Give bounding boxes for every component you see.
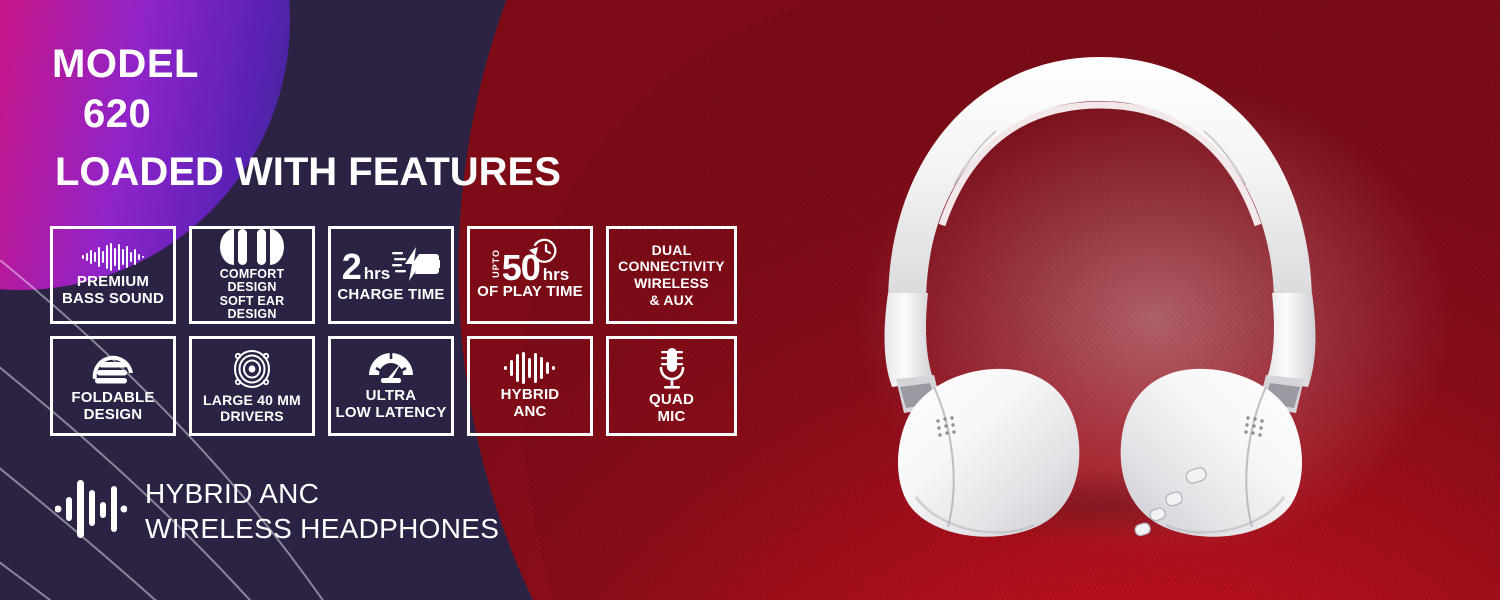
clock-arrow-icon: [526, 236, 560, 266]
feature-hybrid-anc[interactable]: HYBRID ANC: [467, 336, 593, 436]
play-time-unit: hrs: [543, 267, 569, 282]
feature-ultra-low-latency[interactable]: ULTRA LOW LATENCY: [328, 336, 454, 436]
charge-time-value: 2 hrs: [342, 251, 391, 283]
feature-dual-connectivity[interactable]: DUAL CONNECTIVITY WIRELESS & AUX: [606, 226, 737, 324]
feature-grid: PREMIUM BASS SOUND COMFORT DESIGN SOFT E…: [50, 226, 737, 436]
feature-charge-time[interactable]: 2 hrs: [328, 226, 454, 324]
anc-waveform-icon: [504, 352, 556, 384]
foldable-headphone-icon: [89, 349, 137, 387]
feature-large-drivers[interactable]: LARGE 40 MM DRIVERS: [189, 336, 315, 436]
feature-comfort-design[interactable]: COMFORT DESIGN SOFT EAR DESIGN: [189, 226, 315, 324]
feature-label: CHARGE TIME: [337, 287, 444, 303]
feature-premium-bass-sound[interactable]: PREMIUM BASS SOUND: [50, 226, 176, 324]
microphone-icon: [656, 347, 688, 389]
brand-text: HYBRID ANC WIRELESS HEADPHONES: [145, 477, 499, 545]
feature-play-time[interactable]: UPTO 50 hrs OF PLAY TIME: [467, 226, 593, 324]
feature-row-1: PREMIUM BASS SOUND COMFORT DESIGN SOFT E…: [50, 226, 737, 324]
play-time-prefix: UPTO: [491, 249, 501, 278]
model-label: MODEL: [52, 44, 199, 84]
feature-label: QUAD MIC: [649, 392, 694, 424]
product-image: [830, 35, 1370, 545]
charge-time-unit: hrs: [364, 266, 390, 281]
waveform-logo-icon: [55, 476, 127, 547]
model-number: 620: [83, 94, 151, 134]
feature-quad-mic[interactable]: QUAD MIC: [606, 336, 737, 436]
feature-label: COMFORT DESIGN SOFT EAR DESIGN: [195, 268, 309, 322]
speedometer-icon: [367, 351, 415, 385]
product-feature-banner: MODEL 620 LOADED WITH FEATURES: [0, 0, 1500, 600]
headphones-illustration: [830, 35, 1370, 545]
feature-label: LARGE 40 MM DRIVERS: [203, 393, 301, 423]
fast-charge-battery-icon: [392, 247, 440, 281]
feature-label: DUAL CONNECTIVITY WIRELESS & AUX: [618, 242, 725, 308]
feature-label: HYBRID ANC: [501, 387, 560, 419]
feature-label: FOLDABLE DESIGN: [71, 390, 154, 422]
feature-label: ULTRA LOW LATENCY: [335, 388, 446, 420]
brand-lockup: HYBRID ANC WIRELESS HEADPHONES: [55, 476, 499, 547]
sound-waveform-icon: [82, 243, 144, 271]
charge-time-value-row: 2 hrs: [342, 247, 441, 287]
feature-label: PREMIUM BASS SOUND: [62, 274, 164, 306]
speaker-driver-icon: [231, 348, 273, 390]
feature-label: OF PLAY TIME: [477, 284, 583, 300]
charge-time-number: 2: [342, 251, 361, 283]
feature-foldable-design[interactable]: FOLDABLE DESIGN: [50, 336, 176, 436]
page-title: LOADED WITH FEATURES: [55, 152, 561, 192]
feature-row-2: FOLDABLE DESIGN: [50, 336, 737, 436]
ear-cushion-icon: [220, 229, 284, 265]
